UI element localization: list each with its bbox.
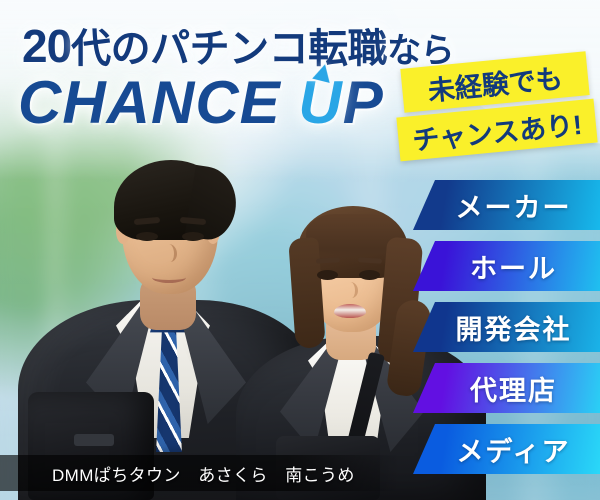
category-label-maker: メーカー	[442, 186, 572, 225]
caption-bar: DMMぱちタウン あさくら 南こうめ	[0, 455, 400, 491]
advertisement-banner[interactable]: 20代のパチンコ転職なら CHANCE U P 未経験でも チャンスあり! メー…	[0, 0, 600, 500]
caption-text: DMMぱちタウン あさくら 南こうめ	[0, 461, 355, 486]
category-button-developer[interactable]: 開発会社	[413, 302, 600, 352]
logo-letter-p: P	[343, 69, 384, 136]
logo-word-chance: CHANCE	[18, 69, 281, 136]
female-nose	[344, 282, 358, 298]
male-mouth	[152, 272, 186, 283]
headline-number: 20	[22, 20, 71, 72]
female-mouth	[334, 304, 366, 318]
female-eye-left	[317, 270, 338, 280]
headline-main: 代のパチンコ転職	[71, 27, 387, 71]
chance-up-logo: CHANCE U P	[18, 68, 384, 137]
category-label-media: メディア	[442, 430, 570, 469]
category-button-media[interactable]: メディア	[413, 424, 600, 474]
logo-letter-u: U	[298, 68, 342, 137]
female-eye-right	[359, 270, 380, 280]
promo-badge: 未経験でも チャンスあり!	[398, 56, 598, 164]
category-button-list: メーカー ホール 開発会社 代理店 メディア	[413, 180, 600, 474]
category-label-developer: 開発会社	[442, 308, 572, 347]
male-eye-left	[136, 232, 158, 241]
category-button-maker[interactable]: メーカー	[413, 180, 600, 230]
headline: 20代のパチンコ転職なら	[22, 16, 454, 74]
male-eye-right	[182, 232, 204, 241]
category-label-agency: 代理店	[456, 369, 557, 408]
category-button-agency[interactable]: 代理店	[413, 363, 600, 413]
category-label-hall: ホール	[456, 247, 557, 286]
male-nose	[162, 244, 177, 262]
male-briefcase-clasp	[74, 434, 114, 446]
category-button-hall[interactable]: ホール	[413, 241, 600, 291]
